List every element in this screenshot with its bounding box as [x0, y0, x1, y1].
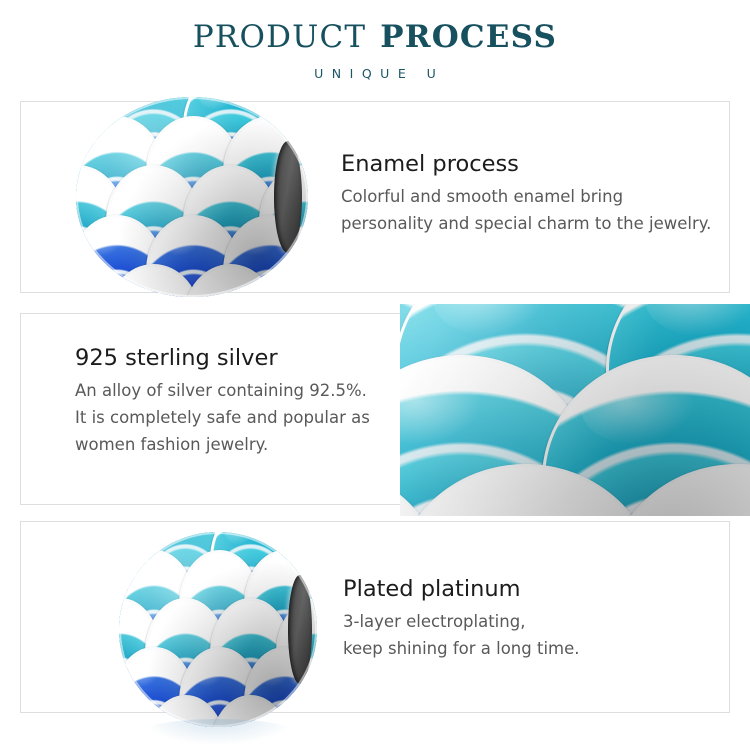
- bead-clip-1: [76, 97, 308, 297]
- scale-tile: [76, 264, 115, 297]
- card-heading: Enamel process: [341, 150, 711, 178]
- feature-card-text-2: 925 sterling silver An alloy of silver c…: [75, 344, 370, 458]
- bead-through-hole: [288, 575, 312, 684]
- card-body-line: 3-layer electroplating,: [343, 609, 580, 636]
- page-subtitle: UNIQUE U: [0, 66, 750, 81]
- feature-card-sterling-silver: 925 sterling silver An alloy of silver c…: [20, 313, 730, 505]
- scale-pattern-macro: [400, 304, 750, 516]
- product-bead-image-3: [119, 532, 317, 727]
- scale-tile: [192, 264, 269, 297]
- enamel-bead-3: [119, 532, 317, 727]
- scale-row: [76, 264, 308, 297]
- feature-card-plated-platinum: Plated platinum 3-layer electroplating, …: [20, 521, 730, 713]
- page-title-word-one: PRODUCT: [193, 19, 366, 55]
- page-title: PRODUCTPROCESS: [0, 22, 750, 53]
- feature-card-text-1: Enamel process Colorful and smooth ename…: [341, 150, 711, 238]
- scale-tile: [632, 464, 750, 516]
- scale-pattern-3: [119, 532, 317, 727]
- card-heading: 925 sterling silver: [75, 344, 370, 372]
- card-body-line: women fashion jewelry.: [75, 432, 370, 459]
- card-body-line: It is completely safe and popular as: [75, 405, 370, 432]
- product-macro-image-2: [400, 304, 750, 516]
- product-bead-image-1: [76, 97, 308, 297]
- page-header: PRODUCTPROCESS UNIQUE U: [0, 0, 750, 81]
- scale-tile: [283, 695, 317, 727]
- scale-arc-icon: [210, 695, 291, 727]
- bead-through-hole: [274, 141, 302, 253]
- scale-tile: [218, 695, 283, 727]
- card-body-line: Colorful and smooth enamel bring: [341, 184, 711, 211]
- card-body-line: keep shining for a long time.: [343, 636, 580, 663]
- feature-card-text-3: Plated platinum 3-layer electroplating, …: [343, 575, 580, 663]
- feature-card-enamel-process: Enamel process Colorful and smooth ename…: [20, 101, 730, 293]
- scale-arc-icon: [145, 695, 226, 727]
- page-title-word-two: PROCESS: [380, 19, 557, 55]
- scale-tile: [269, 264, 308, 297]
- card-heading: Plated platinum: [343, 575, 580, 603]
- enamel-bead-macro: [400, 304, 750, 516]
- scale-arc-icon: [400, 464, 657, 516]
- scale-arc-icon: [183, 264, 278, 297]
- scale-arc-icon: [106, 264, 201, 297]
- scale-pattern-1: [76, 97, 308, 297]
- scale-tile: [153, 695, 218, 727]
- scale-tile: [419, 464, 631, 516]
- scale-row: [119, 695, 317, 727]
- card-body-line: personality and special charm to the jew…: [341, 211, 711, 238]
- scale-tile: [115, 264, 192, 297]
- scale-tile: [400, 464, 419, 516]
- macro-clip-2: [400, 304, 750, 516]
- scale-tile: [119, 695, 153, 727]
- enamel-bead-1: [76, 97, 308, 297]
- card-body-line: An alloy of silver containing 92.5%.: [75, 378, 370, 405]
- scale-row: [400, 464, 750, 516]
